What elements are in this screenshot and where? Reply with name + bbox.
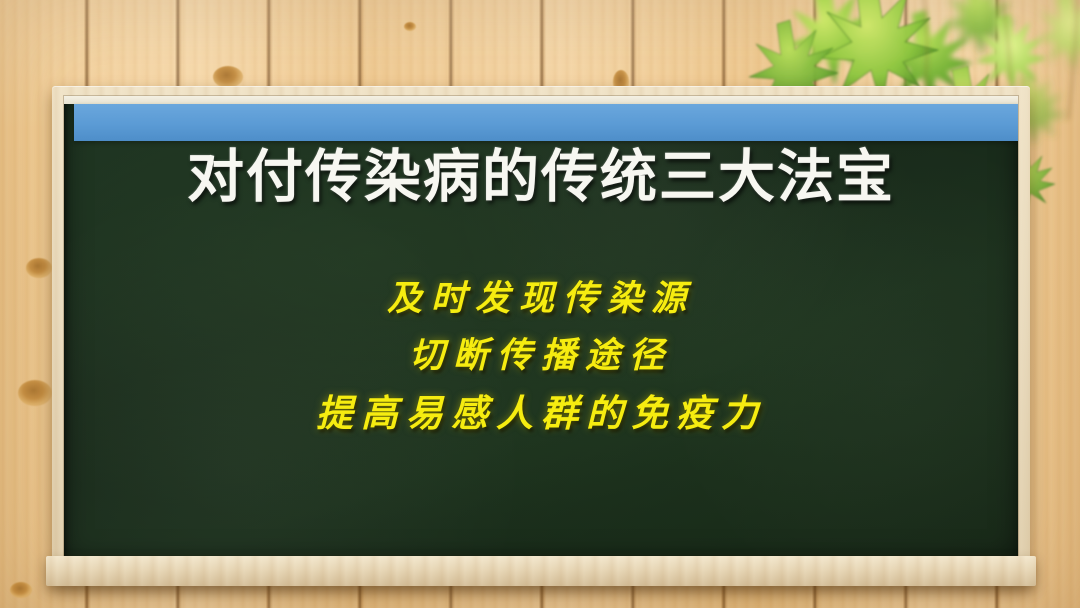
slogan-line-2: 切断传播途径 — [64, 338, 1018, 373]
slide-title: 对付传染病的传统三大法宝 — [64, 148, 1018, 208]
board-text-block: 对付传染病的传统三大法宝 及时发现传染源 切断传播途径 提高易感人群的免疫力 — [64, 96, 1018, 560]
wood-knot-icon — [26, 258, 52, 278]
banner-blue-bar — [74, 104, 1018, 141]
wood-knot-icon — [18, 380, 52, 406]
chalkboard-surface: 对付传染病的传统三大法宝 及时发现传染源 切断传播途径 提高易感人群的免疫力 — [64, 96, 1018, 560]
chalkboard-frame: 对付传染病的传统三大法宝 及时发现传染源 切断传播途径 提高易感人群的免疫力 — [52, 86, 1030, 586]
chalkboard-ledge — [46, 556, 1036, 586]
wood-knot-icon — [10, 582, 32, 598]
slide-canvas: 对付传染病的传统三大法宝 及时发现传染源 切断传播途径 提高易感人群的免疫力 — [0, 0, 1080, 608]
slogan-line-1: 及时发现传染源 — [64, 281, 1018, 316]
banner-cream-strip — [64, 96, 1018, 104]
wood-knot-icon — [404, 22, 416, 31]
slogan-list: 及时发现传染源 切断传播途径 提高易感人群的免疫力 — [64, 281, 1018, 432]
slogan-line-3: 提高易感人群的免疫力 — [64, 395, 1018, 432]
wood-knot-icon — [213, 66, 243, 88]
